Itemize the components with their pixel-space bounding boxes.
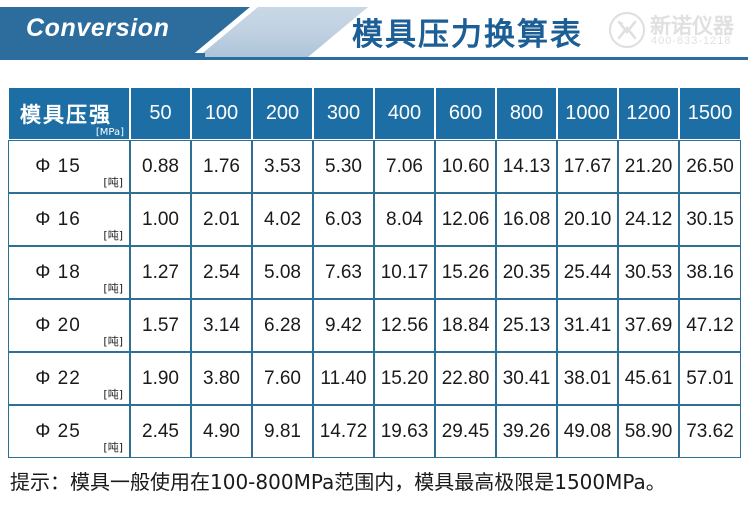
table-cell: 18.84 [435,299,496,352]
table-cell: 5.08 [252,246,313,299]
table-cell: 20.35 [496,246,557,299]
table-cell: 4.02 [252,193,313,246]
table-cell: 26.50 [679,140,741,193]
table-cell: 10.17 [374,246,435,299]
table-cell: 17.67 [557,140,618,193]
conversion-table-wrapper: 模具压强[MPa]5010020030040060080010001200150… [8,87,741,458]
table-cell: 7.63 [313,246,374,299]
table-cell: 16.08 [496,193,557,246]
table-cell: 1.76 [191,140,252,193]
column-header-300: 300 [313,87,374,140]
table-cell: 38.01 [557,352,618,405]
table-cell: 3.80 [191,352,252,405]
row-unit-label: [吨] [103,280,123,296]
pressure-conversion-table: 模具压强[MPa]5010020030040060080010001200150… [8,87,741,458]
page-header: Conversion 模具压力换算表 新诺仪器 400-833-1218 [0,0,748,60]
table-cell: 45.61 [618,352,679,405]
table-cell: 25.44 [557,246,618,299]
table-cell: 38.16 [679,246,741,299]
table-cell: 14.13 [496,140,557,193]
row-header-label: Φ 25[吨] [8,405,130,458]
table-cell: 19.63 [374,405,435,458]
row-unit-label: [吨] [103,174,123,190]
table-cell: 29.45 [435,405,496,458]
table-row: Φ 18[吨]1.272.545.087.6310.1715.2620.3525… [8,246,741,299]
logo-phone-text: 400-833-1218 [651,35,732,47]
table-cell: 5.30 [313,140,374,193]
table-cell: 2.45 [130,405,191,458]
table-cell: 6.28 [252,299,313,352]
table-header-row: 模具压强[MPa]5010020030040060080010001200150… [8,87,741,140]
table-row: Φ 15[吨]0.881.763.535.307.0610.6014.1317.… [8,140,741,193]
table-cell: 49.08 [557,405,618,458]
table-cell: 11.40 [313,352,374,405]
table-cell: 2.01 [191,193,252,246]
table-cell: 15.26 [435,246,496,299]
table-cell: 0.88 [130,140,191,193]
corner-unit-label: [MPa] [96,127,124,138]
table-cell: 24.12 [618,193,679,246]
table-row: Φ 20[吨]1.573.146.289.4212.5618.8425.1331… [8,299,741,352]
table-cell: 37.69 [618,299,679,352]
table-cell: 3.14 [191,299,252,352]
row-header-label: Φ 18[吨] [8,246,130,299]
table-cell: 7.06 [374,140,435,193]
table-cell: 30.15 [679,193,741,246]
table-cell: 7.60 [252,352,313,405]
table-corner-header: 模具压强[MPa] [8,87,130,140]
table-cell: 10.60 [435,140,496,193]
table-body: 模具压强[MPa]5010020030040060080010001200150… [8,87,741,458]
column-header-400: 400 [374,87,435,140]
table-row: Φ 16[吨]1.002.014.026.038.0412.0616.0820.… [8,193,741,246]
table-cell: 1.27 [130,246,191,299]
table-cell: 12.56 [374,299,435,352]
table-cell: 3.53 [252,140,313,193]
row-header-label: Φ 15[吨] [8,140,130,193]
table-cell: 57.01 [679,352,741,405]
table-cell: 47.12 [679,299,741,352]
column-header-1200: 1200 [618,87,679,140]
table-cell: 9.81 [252,405,313,458]
row-unit-label: [吨] [103,227,123,243]
table-cell: 21.20 [618,140,679,193]
row-unit-label: [吨] [103,386,123,402]
page-title: 模具压力换算表 [352,9,583,54]
table-cell: 30.53 [618,246,679,299]
row-header-label: Φ 20[吨] [8,299,130,352]
header-title-en: Conversion [26,14,170,43]
header-underline [0,57,748,60]
column-header-600: 600 [435,87,496,140]
table-cell: 1.57 [130,299,191,352]
table-cell: 25.13 [496,299,557,352]
row-header-label: Φ 22[吨] [8,352,130,405]
table-cell: 15.20 [374,352,435,405]
row-header-label: Φ 16[吨] [8,193,130,246]
table-row: Φ 25[吨]2.454.909.8114.7219.6329.4539.264… [8,405,741,458]
table-cell: 1.00 [130,193,191,246]
company-logo: 新诺仪器 400-833-1218 [608,8,742,52]
table-cell: 2.54 [191,246,252,299]
corner-label: 模具压强 [9,99,129,129]
table-cell: 58.90 [618,405,679,458]
table-cell: 31.41 [557,299,618,352]
row-unit-label: [吨] [103,333,123,349]
table-cell: 20.10 [557,193,618,246]
table-cell: 8.04 [374,193,435,246]
table-cell: 9.42 [313,299,374,352]
table-cell: 4.90 [191,405,252,458]
column-header-1500: 1500 [679,87,741,140]
table-cell: 14.72 [313,405,374,458]
column-header-50: 50 [130,87,191,140]
table-cell: 1.90 [130,352,191,405]
table-row: Φ 22[吨]1.903.807.6011.4015.2022.8030.413… [8,352,741,405]
footer-note: 提示：模具一般使用在100-800MPa范围内，模具最高极限是1500MPa。 [10,466,745,495]
table-cell: 39.26 [496,405,557,458]
column-header-800: 800 [496,87,557,140]
row-unit-label: [吨] [103,439,123,455]
table-cell: 6.03 [313,193,374,246]
column-header-1000: 1000 [557,87,618,140]
table-cell: 12.06 [435,193,496,246]
table-cell: 22.80 [435,352,496,405]
column-header-100: 100 [191,87,252,140]
table-cell: 30.41 [496,352,557,405]
circle-xn-monogram-icon [608,11,646,49]
column-header-200: 200 [252,87,313,140]
table-cell: 73.62 [679,405,741,458]
